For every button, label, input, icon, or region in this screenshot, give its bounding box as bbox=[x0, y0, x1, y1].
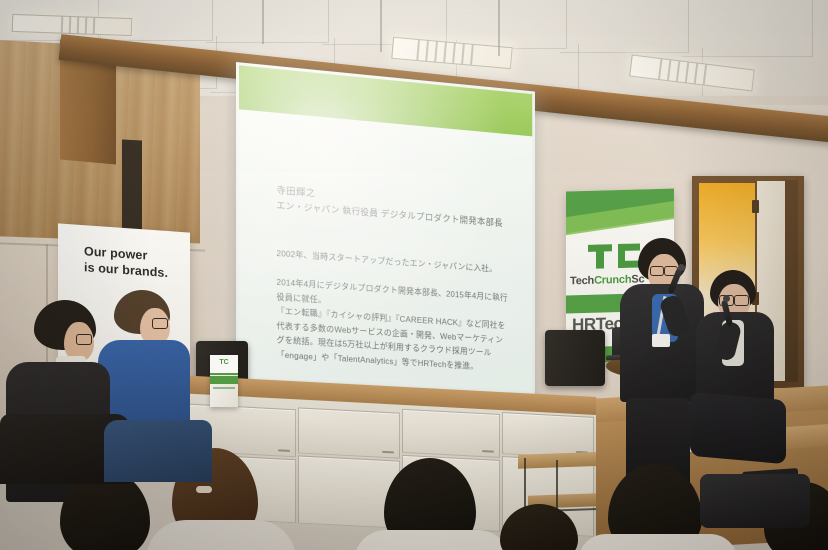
ceiling-hanger-rod bbox=[380, 0, 382, 52]
door-frame-edge bbox=[785, 180, 798, 382]
cabinet-door[interactable] bbox=[402, 409, 500, 458]
legs bbox=[690, 392, 786, 464]
slide-body: 寺田輝之 エン・ジャパン 執行役員 デジタルプロダクト開発本部長 2002年、当… bbox=[239, 109, 532, 393]
glasses-icon bbox=[650, 266, 664, 276]
microphone-head-icon bbox=[723, 295, 730, 302]
microphone-head-icon bbox=[678, 264, 685, 271]
brand-banner-text: Our power is our brands. bbox=[84, 243, 168, 281]
glasses-icon bbox=[734, 295, 749, 306]
wordmark-tech: Tech bbox=[570, 275, 594, 288]
badge bbox=[652, 334, 670, 347]
glasses-icon bbox=[76, 334, 92, 345]
audience-shoulders bbox=[354, 530, 510, 550]
audience-body-back-row bbox=[104, 420, 212, 482]
goodie-bag[interactable]: TC bbox=[210, 355, 238, 407]
glasses-icon bbox=[152, 318, 168, 329]
slide-speaker-block: 寺田輝之 エン・ジャパン 執行役員 デジタルプロダクト開発本部長 bbox=[276, 184, 502, 231]
techcrunch-tc-logo-icon bbox=[588, 243, 640, 268]
hair-tie bbox=[196, 486, 212, 493]
audience-shoulders bbox=[578, 534, 738, 550]
pa-speaker-right bbox=[545, 330, 605, 386]
conference-photo-scene: 寺田輝之 エン・ジャパン 執行役員 デジタルプロダクト開発本部長 2002年、当… bbox=[0, 0, 828, 550]
projection-screen: 寺田輝之 エン・ジャパン 執行役員 デジタルプロダクト開発本部長 2002年、当… bbox=[236, 62, 535, 397]
cabinet-door[interactable] bbox=[298, 407, 400, 458]
slide-paragraph-1: 2002年、当時スタートアップだったエン・ジャパンに入社。 bbox=[276, 246, 510, 277]
ceiling-hanger-rod bbox=[262, 0, 264, 44]
wordmark-crunch: Crunch bbox=[594, 274, 631, 287]
door-hinge-icon bbox=[752, 200, 759, 213]
bag-dark bbox=[700, 474, 810, 528]
audience-shoulders bbox=[146, 520, 296, 550]
ceiling-hanger-rod bbox=[498, 0, 500, 56]
